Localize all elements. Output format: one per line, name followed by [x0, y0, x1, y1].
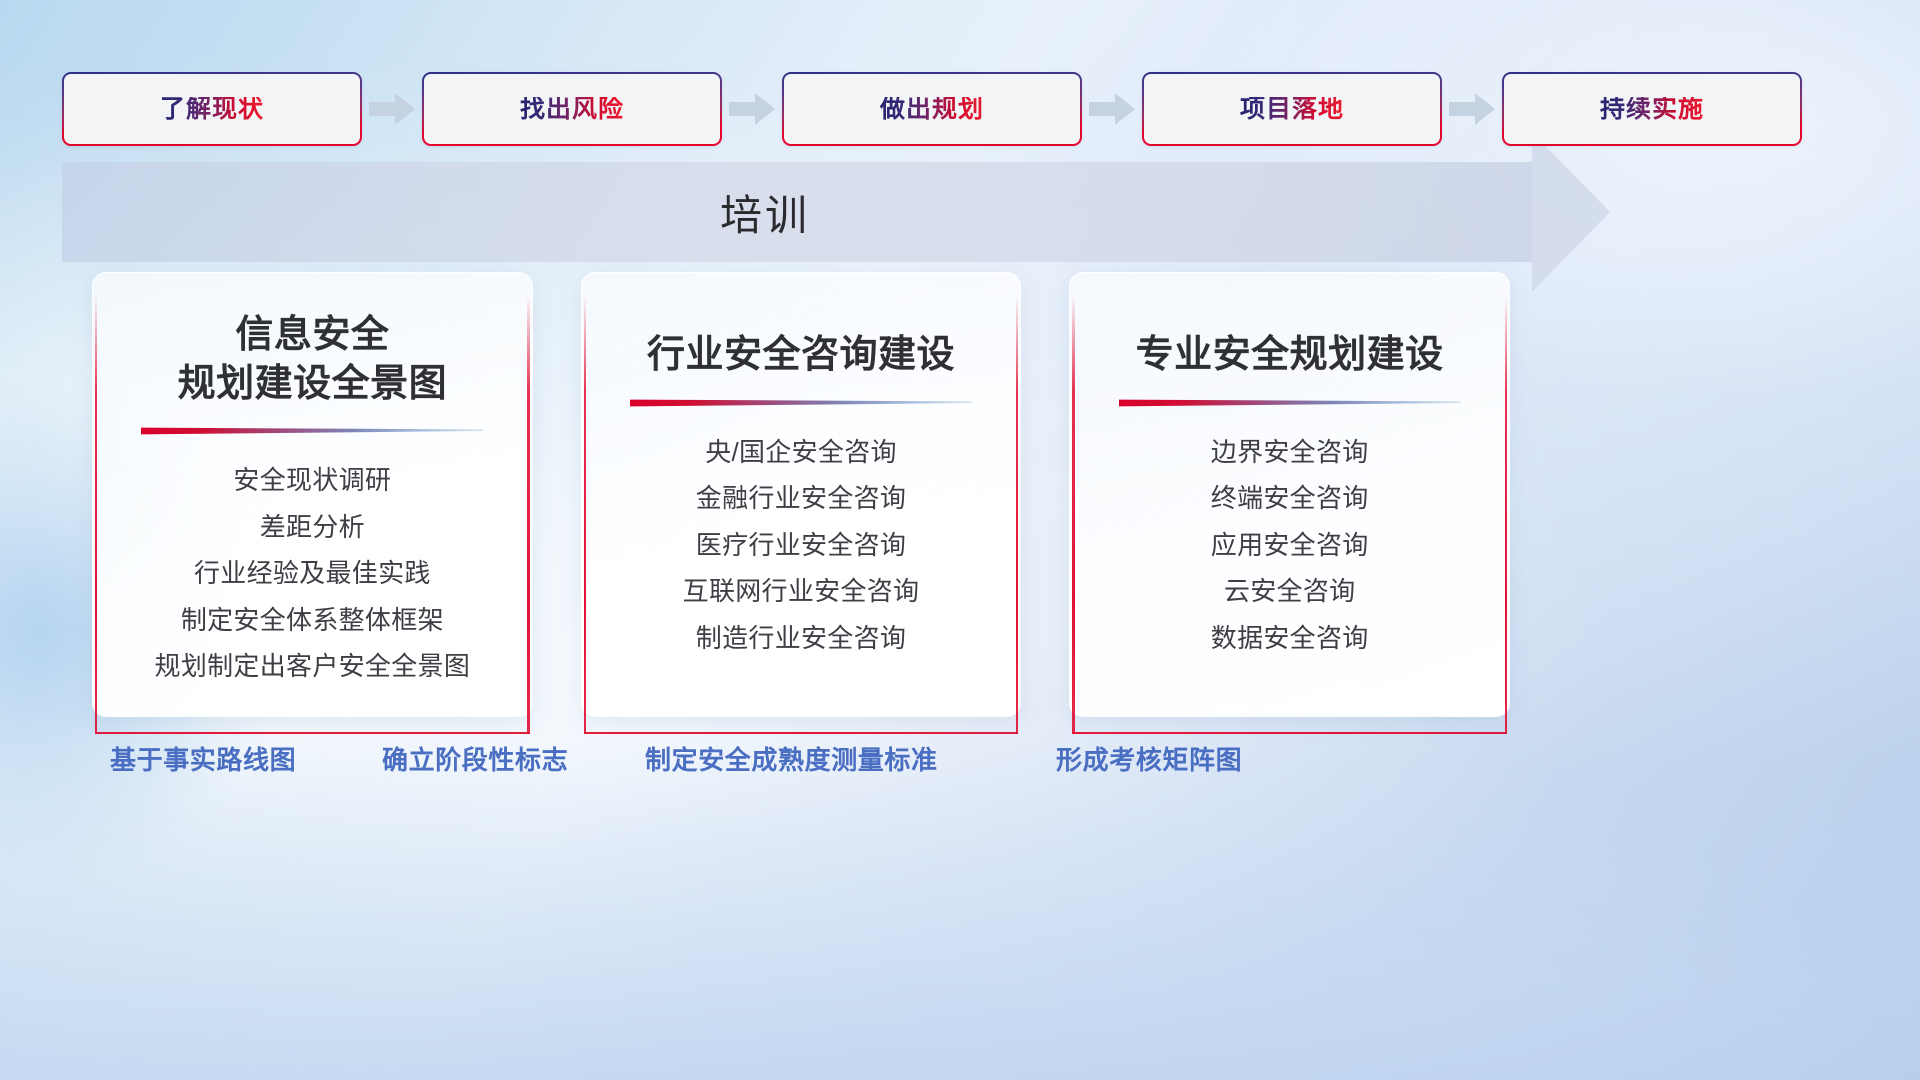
card-accent-left: [1072, 295, 1074, 734]
bottom-label-3: 制定安全成熟度测量标准: [645, 740, 938, 780]
list-item: 差距分析: [260, 508, 365, 548]
card-list-2: 央/国企安全咨询 金融行业安全咨询 医疗行业安全咨询 互联网行业安全咨询 制造行…: [582, 433, 1021, 659]
card-title-3: 专业安全规划建设: [1070, 331, 1509, 380]
list-item: 央/国企安全咨询: [705, 433, 897, 473]
training-banner-title: 培训: [0, 170, 1530, 254]
step-label-2: 找出风险: [520, 97, 624, 122]
step-box-1[interactable]: 了解现状: [62, 72, 362, 146]
chevron-right-arrow-icon: [1082, 72, 1142, 146]
list-item: 终端安全咨询: [1211, 479, 1369, 519]
list-item: 制定安全体系整体框架: [181, 601, 444, 641]
list-item: 医疗行业安全咨询: [696, 526, 906, 566]
list-item: 行业经验及最佳实践: [194, 554, 431, 594]
list-item: 云安全咨询: [1224, 572, 1356, 612]
bottom-label-2: 确立阶段性标志: [382, 740, 568, 780]
bottom-label-1: 基于事实路线图: [110, 740, 296, 780]
step-label-1: 了解现状: [160, 97, 264, 122]
chevron-right-arrow-icon: [722, 72, 782, 146]
card-list-1: 安全现状调研 差距分析 行业经验及最佳实践 制定安全体系整体框架 规划制定出客户…: [93, 461, 532, 687]
list-item: 互联网行业安全咨询: [683, 572, 920, 612]
step-label-5: 持续实施: [1600, 97, 1704, 122]
bottom-labels-row: 基于事实路线图 确立阶段性标志 制定安全成熟度测量标准 形成考核矩阵图: [0, 740, 1920, 796]
card-accent-bottom: [1072, 732, 1507, 734]
process-step-row: 了解现状 找出风险 做出规划 项目落地 持续实施: [62, 72, 1862, 146]
step-label-4: 项目落地: [1240, 97, 1344, 122]
list-item: 安全现状调研: [233, 461, 391, 501]
chevron-right-arrow-icon: [362, 72, 422, 146]
card-title-2: 行业安全咨询建设: [582, 331, 1021, 380]
service-cards-row: 信息安全 规划建设全景图 安全现状调研 差距分析 行: [92, 272, 1510, 717]
list-item: 数据安全咨询: [1211, 619, 1369, 659]
list-item: 金融行业安全咨询: [696, 479, 906, 519]
tapered-gradient-divider: [1119, 398, 1461, 407]
card-accent-left: [584, 295, 586, 734]
service-card-3[interactable]: 专业安全规划建设 边界安全咨询 终端安全咨询 应用安: [1069, 272, 1510, 717]
list-item: 制造行业安全咨询: [696, 619, 906, 659]
step-box-3[interactable]: 做出规划: [782, 72, 1082, 146]
tapered-gradient-divider: [141, 426, 483, 435]
card-accent-right: [527, 295, 529, 734]
step-box-5[interactable]: 持续实施: [1502, 72, 1802, 146]
service-card-1[interactable]: 信息安全 规划建设全景图 安全现状调研 差距分析 行: [92, 272, 533, 717]
list-item: 应用安全咨询: [1211, 526, 1369, 566]
step-label-3: 做出规划: [880, 97, 984, 122]
right-banner-arrow-icon: [1532, 132, 1610, 292]
bottom-label-4: 形成考核矩阵图: [1056, 740, 1242, 780]
chevron-right-arrow-icon: [1442, 72, 1502, 146]
card-accent-left: [95, 295, 97, 734]
list-item: 规划制定出客户安全全景图: [155, 647, 471, 687]
card-title-1: 信息安全 规划建设全景图: [93, 311, 532, 408]
card-list-3: 边界安全咨询 终端安全咨询 应用安全咨询 云安全咨询 数据安全咨询: [1070, 433, 1509, 659]
tapered-gradient-divider: [630, 398, 972, 407]
card-accent-bottom: [95, 732, 530, 734]
step-box-2[interactable]: 找出风险: [422, 72, 722, 146]
card-accent-right: [1505, 295, 1507, 734]
list-item: 边界安全咨询: [1211, 433, 1369, 473]
service-card-2[interactable]: 行业安全咨询建设 央/国企安全咨询 金融行业安全咨询: [581, 272, 1022, 717]
card-accent-bottom: [584, 732, 1019, 734]
step-box-4[interactable]: 项目落地: [1142, 72, 1442, 146]
